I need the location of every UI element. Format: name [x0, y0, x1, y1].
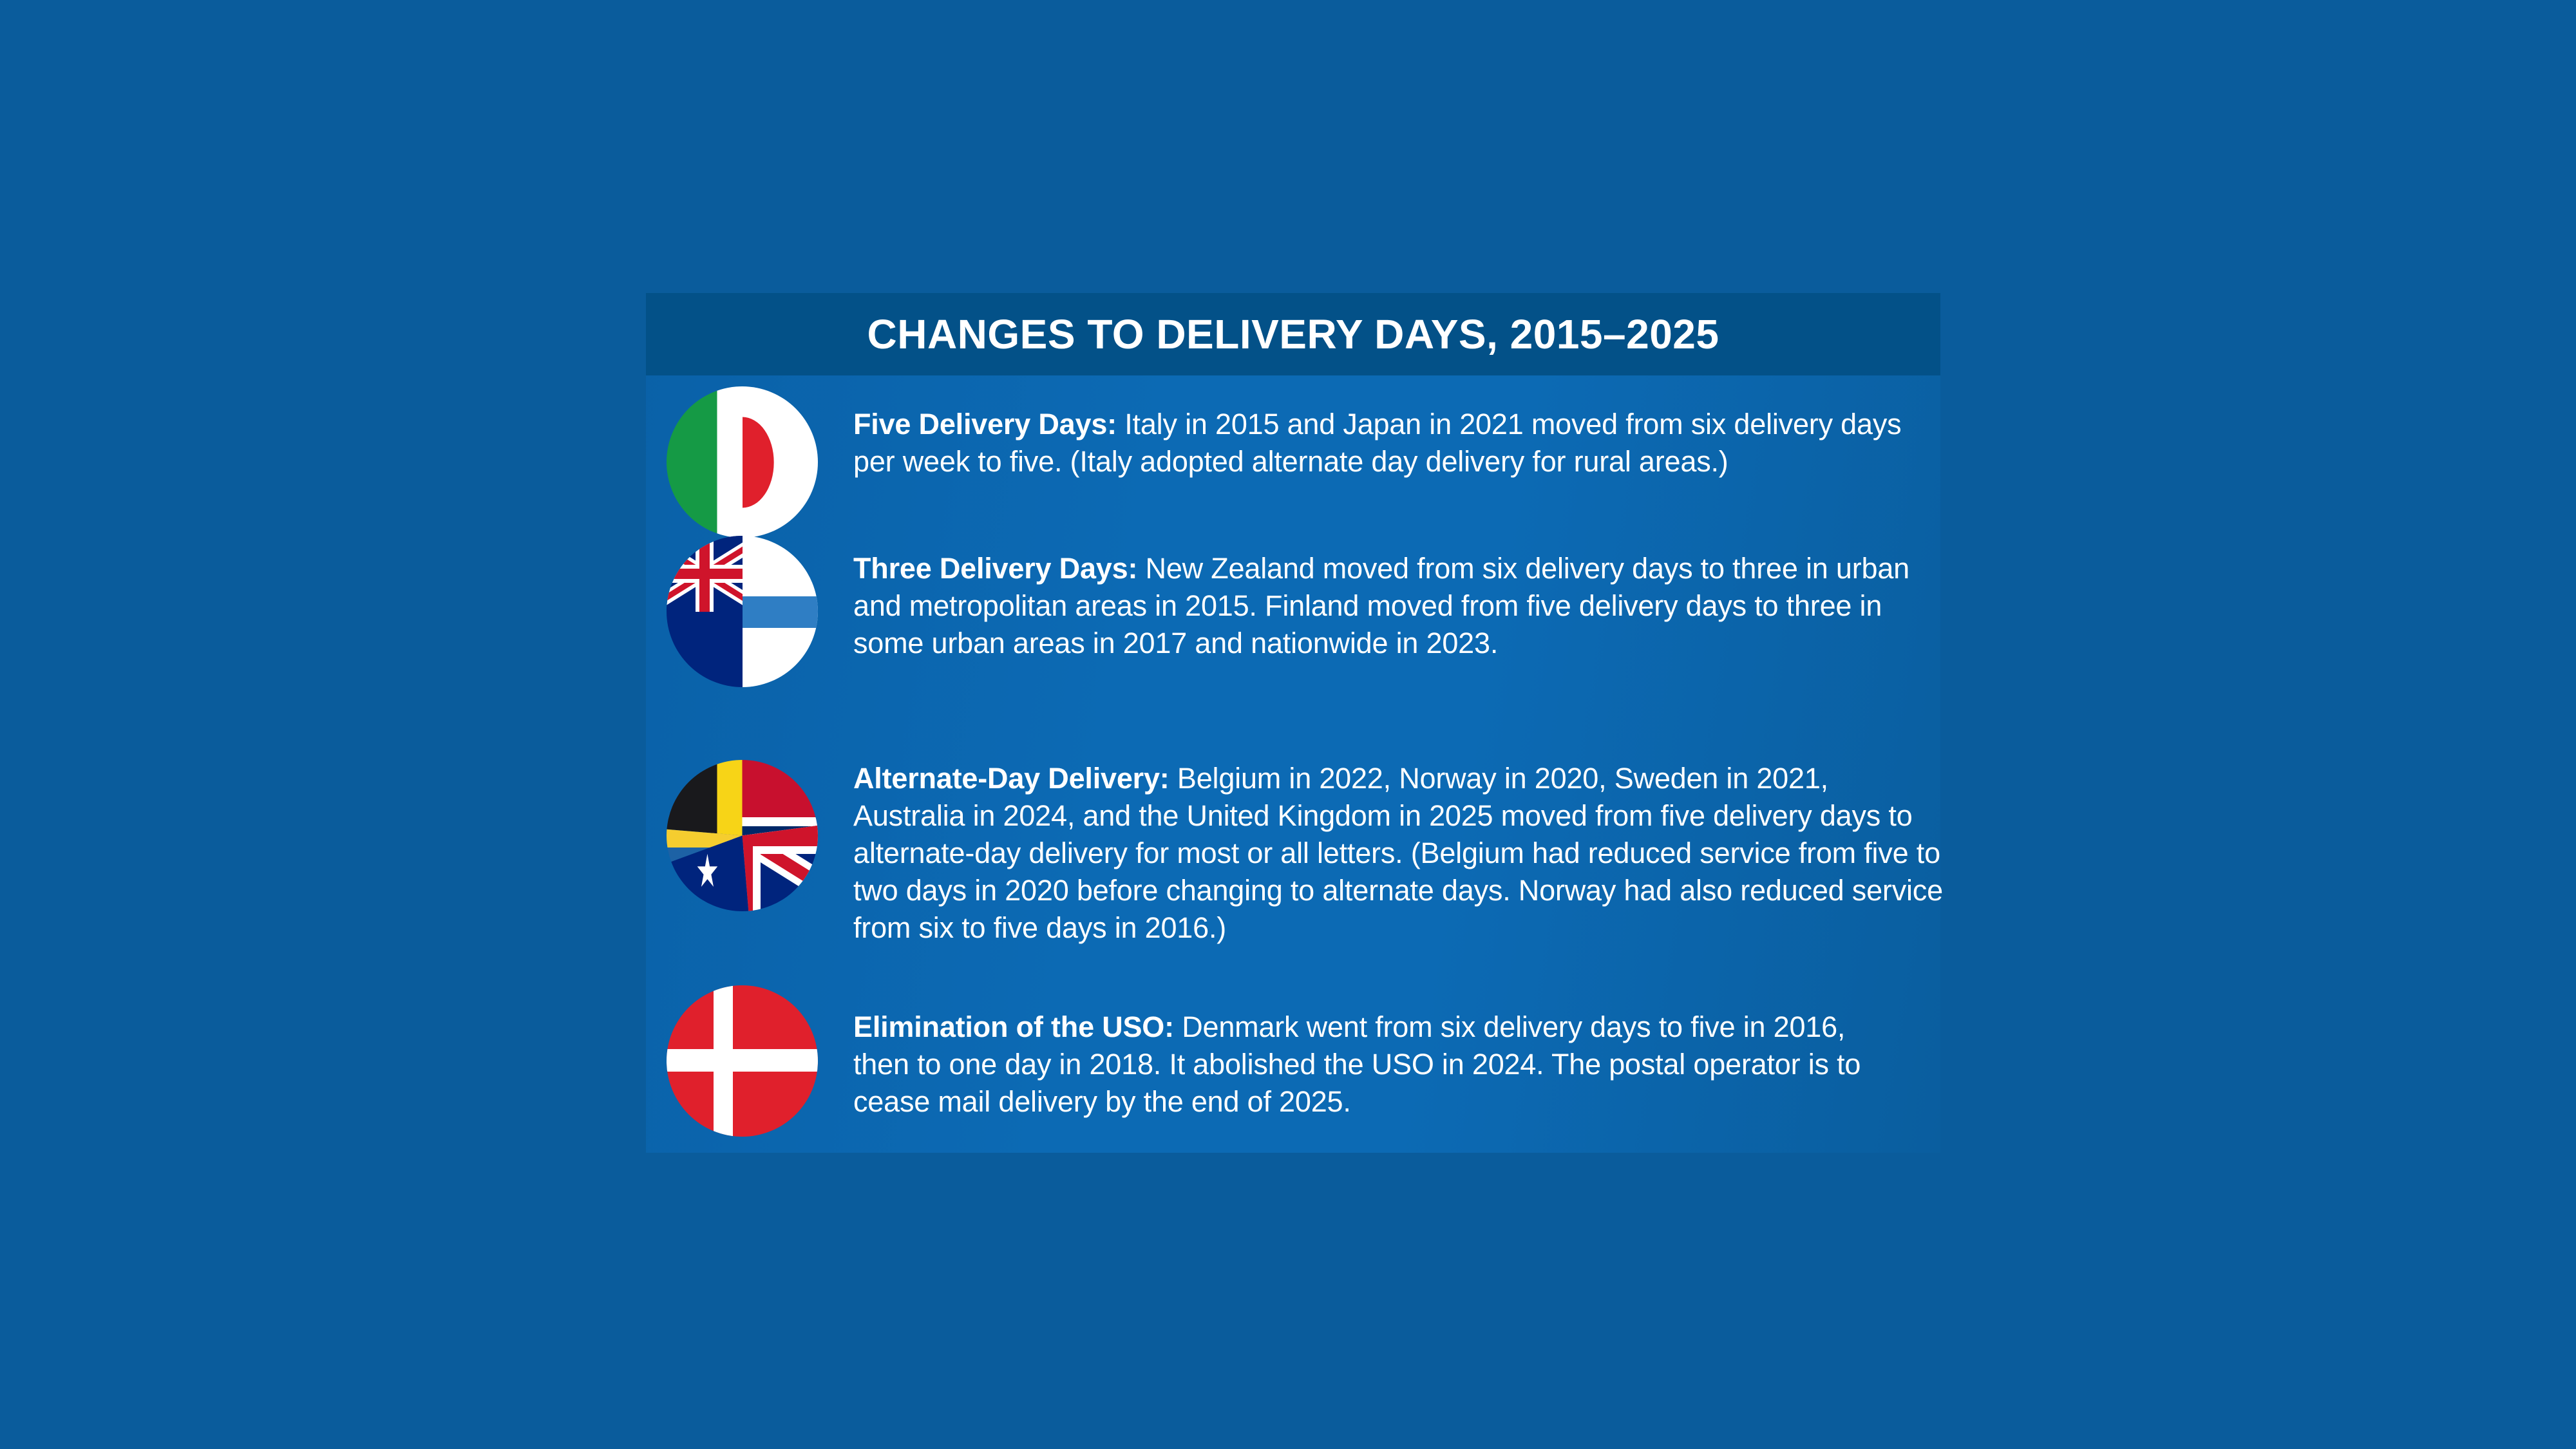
- flag-badge-denmark: [667, 985, 818, 1137]
- list-item: Five Delivery Days: Italy in 2015 and Ja…: [667, 386, 1942, 538]
- flag-badge-italy-japan: [667, 386, 818, 538]
- panel-header: CHANGES TO DELIVERY DAYS, 2015–2025: [646, 293, 1940, 375]
- list-item-text: Alternate-Day Delivery: Belgium in 2022,…: [853, 760, 1945, 947]
- italy-flag-icon: [667, 386, 743, 538]
- list-item-lead: Five Delivery Days:: [853, 408, 1117, 440]
- list-item-text: Elimination of the USO: Denmark went fro…: [853, 1009, 1897, 1121]
- list-item: Elimination of the USO: Denmark went fro…: [667, 985, 1897, 1137]
- page-title: CHANGES TO DELIVERY DAYS, 2015–2025: [867, 310, 1719, 358]
- japan-flag-icon: [743, 386, 819, 538]
- list-item-lead: Three Delivery Days:: [853, 552, 1137, 585]
- finland-flag-icon: [743, 536, 819, 687]
- new-zealand-flag-icon: [667, 536, 743, 687]
- flag-badge-newzealand-finland: [667, 536, 818, 687]
- list-item-text: Five Delivery Days: Italy in 2015 and Ja…: [853, 406, 1942, 480]
- infographic-canvas: CHANGES TO DELIVERY DAYS, 2015–2025 Five…: [0, 0, 2576, 1449]
- list-item-lead: Alternate-Day Delivery:: [853, 762, 1170, 795]
- list-item-text: Three Delivery Days: New Zealand moved f…: [853, 550, 1926, 662]
- flag-badge-five-countries: [667, 760, 818, 911]
- list-item: Three Delivery Days: New Zealand moved f…: [667, 536, 1926, 687]
- list-item: Alternate-Day Delivery: Belgium in 2022,…: [667, 760, 1945, 947]
- list-item-lead: Elimination of the USO:: [853, 1010, 1174, 1043]
